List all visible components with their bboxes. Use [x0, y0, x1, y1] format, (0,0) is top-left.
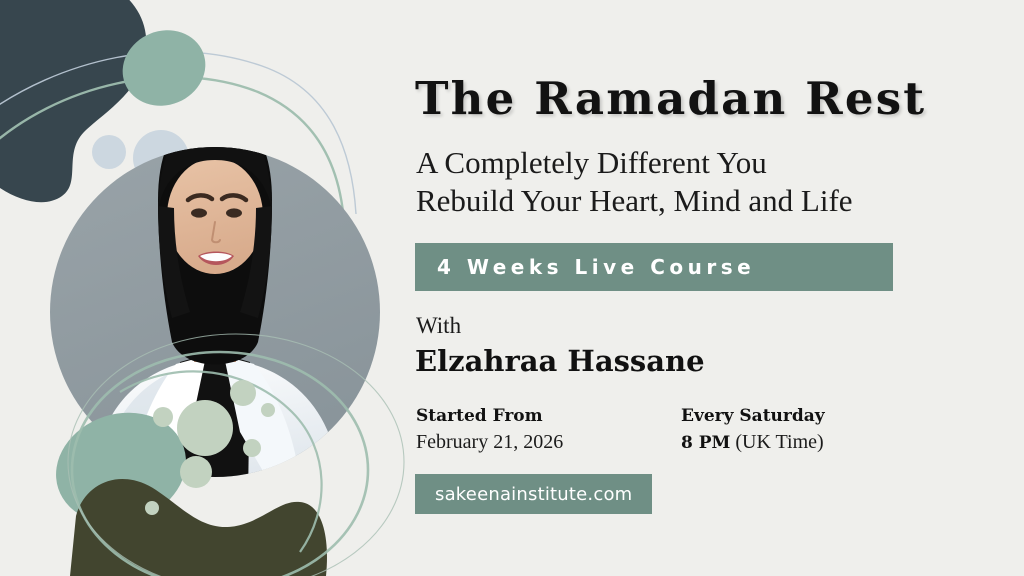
sage-dot-medium [180, 456, 212, 488]
sage-dot-tiny-d [145, 501, 159, 515]
schedule-value: 8 PM (UK Time) [681, 431, 825, 454]
poster-subtitle: A Completely Different You Rebuild Your … [416, 144, 853, 220]
portrait-eye-right [226, 208, 242, 217]
subtitle-line-2: Rebuild Your Heart, Mind and Life [416, 182, 853, 220]
schedule-time: 8 PM [681, 433, 730, 453]
promo-poster: The Ramadan Rest A Completely Different … [0, 0, 1024, 576]
sage-dot-tiny-b [243, 439, 261, 457]
course-duration-banner: 4 Weeks Live Course [415, 243, 893, 291]
sage-dot-small [230, 380, 256, 406]
start-date-block: Started From February 21, 2026 [416, 406, 563, 454]
blue-grey-circle-small [92, 135, 126, 169]
slate-blob-top-left [0, 0, 146, 202]
decorative-artwork-panel [0, 0, 420, 576]
portrait-eye-left [191, 208, 207, 217]
course-duration-label: 4 Weeks Live Course [437, 255, 755, 279]
subtitle-line-1: A Completely Different You [416, 144, 853, 182]
schedule-block: Every Saturday 8 PM (UK Time) [681, 406, 825, 454]
sage-dot-tiny-a [153, 407, 173, 427]
page-title: The Ramadan Rest [415, 72, 926, 125]
sage-dot-tiny-c [261, 403, 275, 417]
speaker-name: Elzahraa Hassane [415, 344, 705, 378]
website-url: sakeenainstitute.com [435, 484, 632, 505]
sage-dot-large [177, 400, 233, 456]
schedule-heading: Every Saturday [681, 406, 825, 426]
start-date-heading: Started From [416, 406, 563, 426]
artwork-svg [0, 0, 420, 576]
start-date-value: February 21, 2026 [416, 431, 563, 454]
olive-blob-bottom [70, 479, 327, 576]
schedule-timezone: (UK Time) [735, 431, 823, 453]
with-label: With [416, 313, 461, 339]
website-button[interactable]: sakeenainstitute.com [415, 474, 652, 514]
poster-content: The Ramadan Rest A Completely Different … [413, 0, 1013, 576]
